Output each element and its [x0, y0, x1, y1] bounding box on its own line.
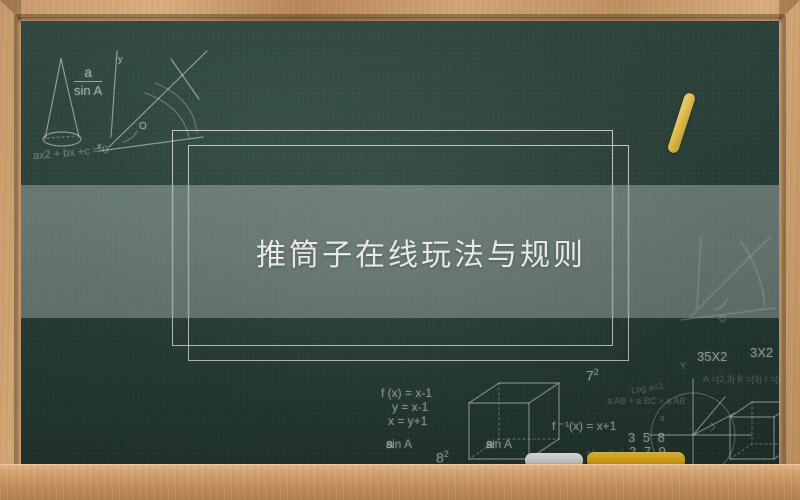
fraction-a-over-sinA-top: a sin A [74, 64, 102, 98]
function-line-2: y = x-1 [392, 400, 428, 414]
label-3x2: 3X2 [750, 345, 773, 360]
label-35x2: 35X2 [697, 349, 727, 364]
title-band: 推筒子在线玩法与规则 [21, 185, 779, 318]
fraction-denominator: sin A [74, 83, 102, 98]
set-expression: A ={2,3} B ={3} I ={1,2,3} [703, 374, 779, 384]
axis-label-y-right: Y [680, 361, 686, 371]
inverse-function: f ⁻¹(x) = x+1 [552, 419, 616, 433]
wooden-ledge [0, 465, 800, 500]
fraction-denominator: sin A [386, 437, 412, 451]
cube-diagram-right-icon [724, 399, 779, 467]
fraction-numerator: a [74, 64, 102, 80]
axis-label-y: y [118, 54, 123, 64]
function-line-1: f (x) = x-1 [381, 386, 432, 400]
chalkboard-banner: y x O a sin A ax2 + bx +c = 0 f (x) = x-… [0, 0, 800, 500]
yellow-chalk-on-board [667, 92, 697, 154]
power-seven: 72 [586, 367, 599, 384]
chalkboard-surface: y x O a sin A ax2 + bx +c = 0 f (x) = x-… [21, 21, 779, 467]
page-title: 推筒子在线玩法与规则 [256, 230, 586, 274]
angle-label-o: O [139, 121, 147, 132]
fraction-bar [74, 81, 102, 82]
fraction-denominator: sin A [486, 437, 512, 451]
function-line-3: x = y+1 [388, 414, 427, 428]
